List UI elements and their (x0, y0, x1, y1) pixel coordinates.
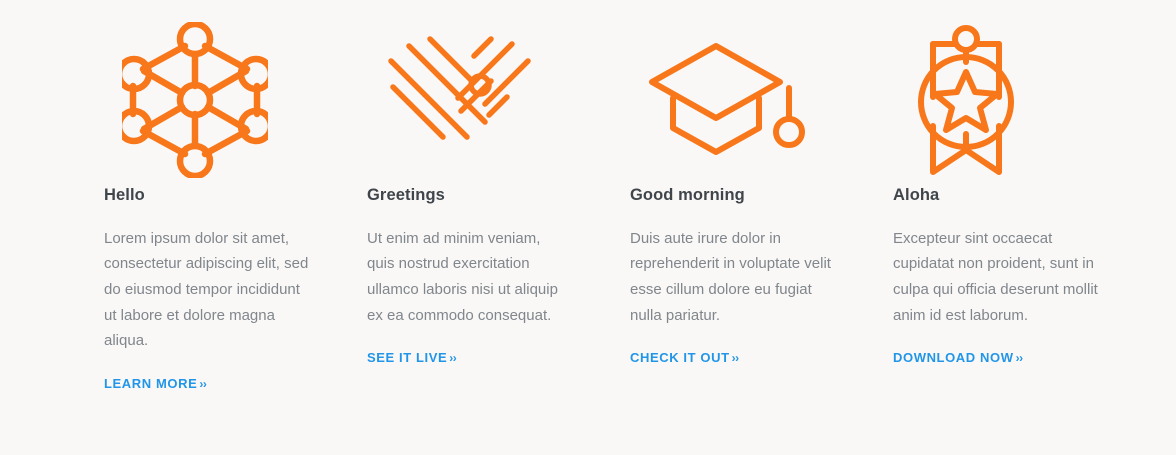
feature-column-4: Aloha Excepteur sint occaecat cupidatat … (891, 14, 1151, 455)
graduation-cap-icon (628, 14, 888, 186)
double-chevron-icon: ›› (447, 351, 456, 365)
feature-column-1: Hello Lorem ipsum dolor sit amet, consec… (102, 14, 362, 455)
feature-link-see-it-live[interactable]: SEE IT LIVE›› (367, 350, 456, 365)
feature-body: Lorem ipsum dolor sit amet, consectetur … (104, 226, 309, 354)
feature-column-2: Greetings Ut enim ad minim veniam, quis … (365, 14, 625, 455)
feature-title: Good morning (630, 186, 888, 206)
feature-column-3: Good morning Duis aute irure dolor in re… (628, 14, 888, 455)
double-chevron-icon: ›› (197, 377, 206, 391)
feature-link-check-it-out[interactable]: CHECK IT OUT›› (630, 350, 739, 365)
double-chevron-icon: ›› (1014, 351, 1023, 365)
feature-text-block: Good morning Duis aute irure dolor in re… (628, 186, 888, 367)
network-nodes-icon (102, 14, 362, 186)
feature-body: Ut enim ad minim veniam, quis nostrud ex… (367, 226, 572, 328)
feature-grid: Hello Lorem ipsum dolor sit amet, consec… (0, 0, 1176, 455)
feature-body: Duis aute irure dolor in reprehenderit i… (630, 226, 835, 328)
feature-link-label: DOWNLOAD NOW (893, 350, 1014, 365)
feature-title: Aloha (893, 186, 1151, 206)
feature-text-block: Aloha Excepteur sint occaecat cupidatat … (891, 186, 1151, 367)
feature-link-learn-more[interactable]: LEARN MORE›› (104, 376, 206, 391)
hatched-heart-icon (365, 14, 625, 186)
feature-body: Excepteur sint occaecat cupidatat non pr… (893, 226, 1098, 328)
award-medal-icon (891, 14, 1151, 186)
feature-text-block: Hello Lorem ipsum dolor sit amet, consec… (102, 186, 362, 393)
feature-title: Greetings (367, 186, 625, 206)
feature-link-label: SEE IT LIVE (367, 350, 447, 365)
feature-title: Hello (104, 186, 362, 206)
feature-text-block: Greetings Ut enim ad minim veniam, quis … (365, 186, 625, 367)
feature-link-label: LEARN MORE (104, 376, 197, 391)
feature-link-label: CHECK IT OUT (630, 350, 730, 365)
feature-link-download-now[interactable]: DOWNLOAD NOW›› (893, 350, 1023, 365)
double-chevron-icon: ›› (730, 351, 739, 365)
